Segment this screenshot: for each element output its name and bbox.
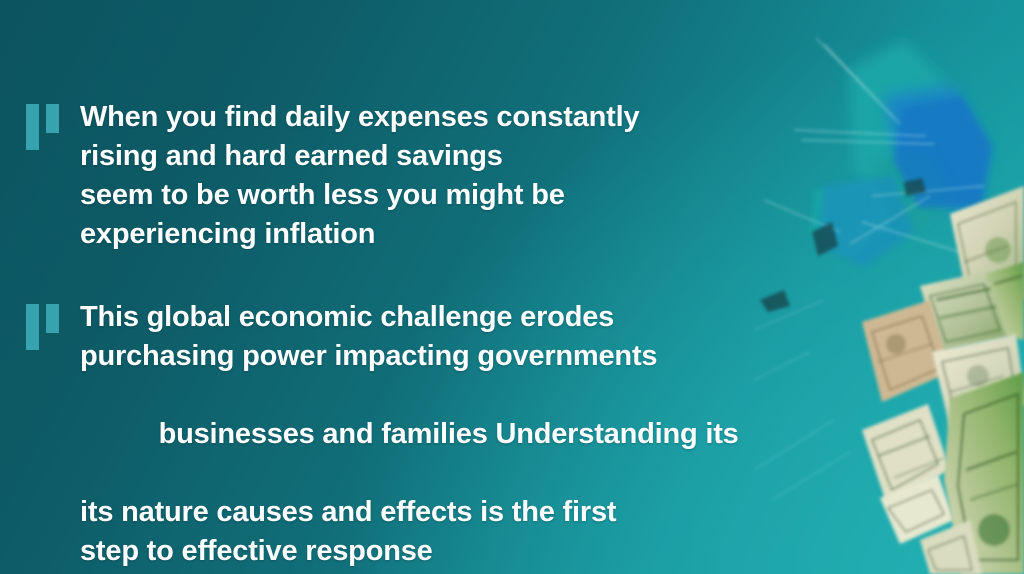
double-bar-bullet-icon [26,304,60,354]
slide-canvas: When you find daily expenses constantly … [0,0,1024,574]
bullet-block-1-lines: When you find daily expenses constantly … [80,98,639,254]
slide-text-content: When you find daily expenses constantly … [0,0,800,574]
bullet-2-line-3: businesses and families Understanding it… [80,376,739,493]
bullet-2-line-5: step to effective response [80,532,739,571]
bullet-bar-tall [26,304,39,350]
bullet-1-line-4: experiencing inflation [80,215,639,254]
bullet-1-line-3: seem to be worth less you might be [80,176,639,215]
bullet-block-1: When you find daily expenses constantly … [26,98,639,254]
bullet-bar-tall [26,104,39,150]
bullet-bar-short [46,104,59,133]
bullet-1-line-2: rising and hard earned savings [80,137,639,176]
bullet-bar-short [46,304,59,333]
bullet-block-2: This global economic challenge erodes pu… [26,298,739,571]
bullet-1-line-1: When you find daily expenses constantly [80,98,639,137]
bullet-2-line-4: its nature causes and effects is the fir… [80,493,739,532]
bullet-2-line-3-text: businesses and families Understanding it… [159,418,739,450]
bullet-2-line-2: purchasing power impacting governments [80,337,739,376]
double-bar-bullet-icon [26,104,60,154]
bullet-block-2-lines: This global economic challenge erodes pu… [80,298,739,571]
bullet-2-line-1: This global economic challenge erodes [80,298,739,337]
